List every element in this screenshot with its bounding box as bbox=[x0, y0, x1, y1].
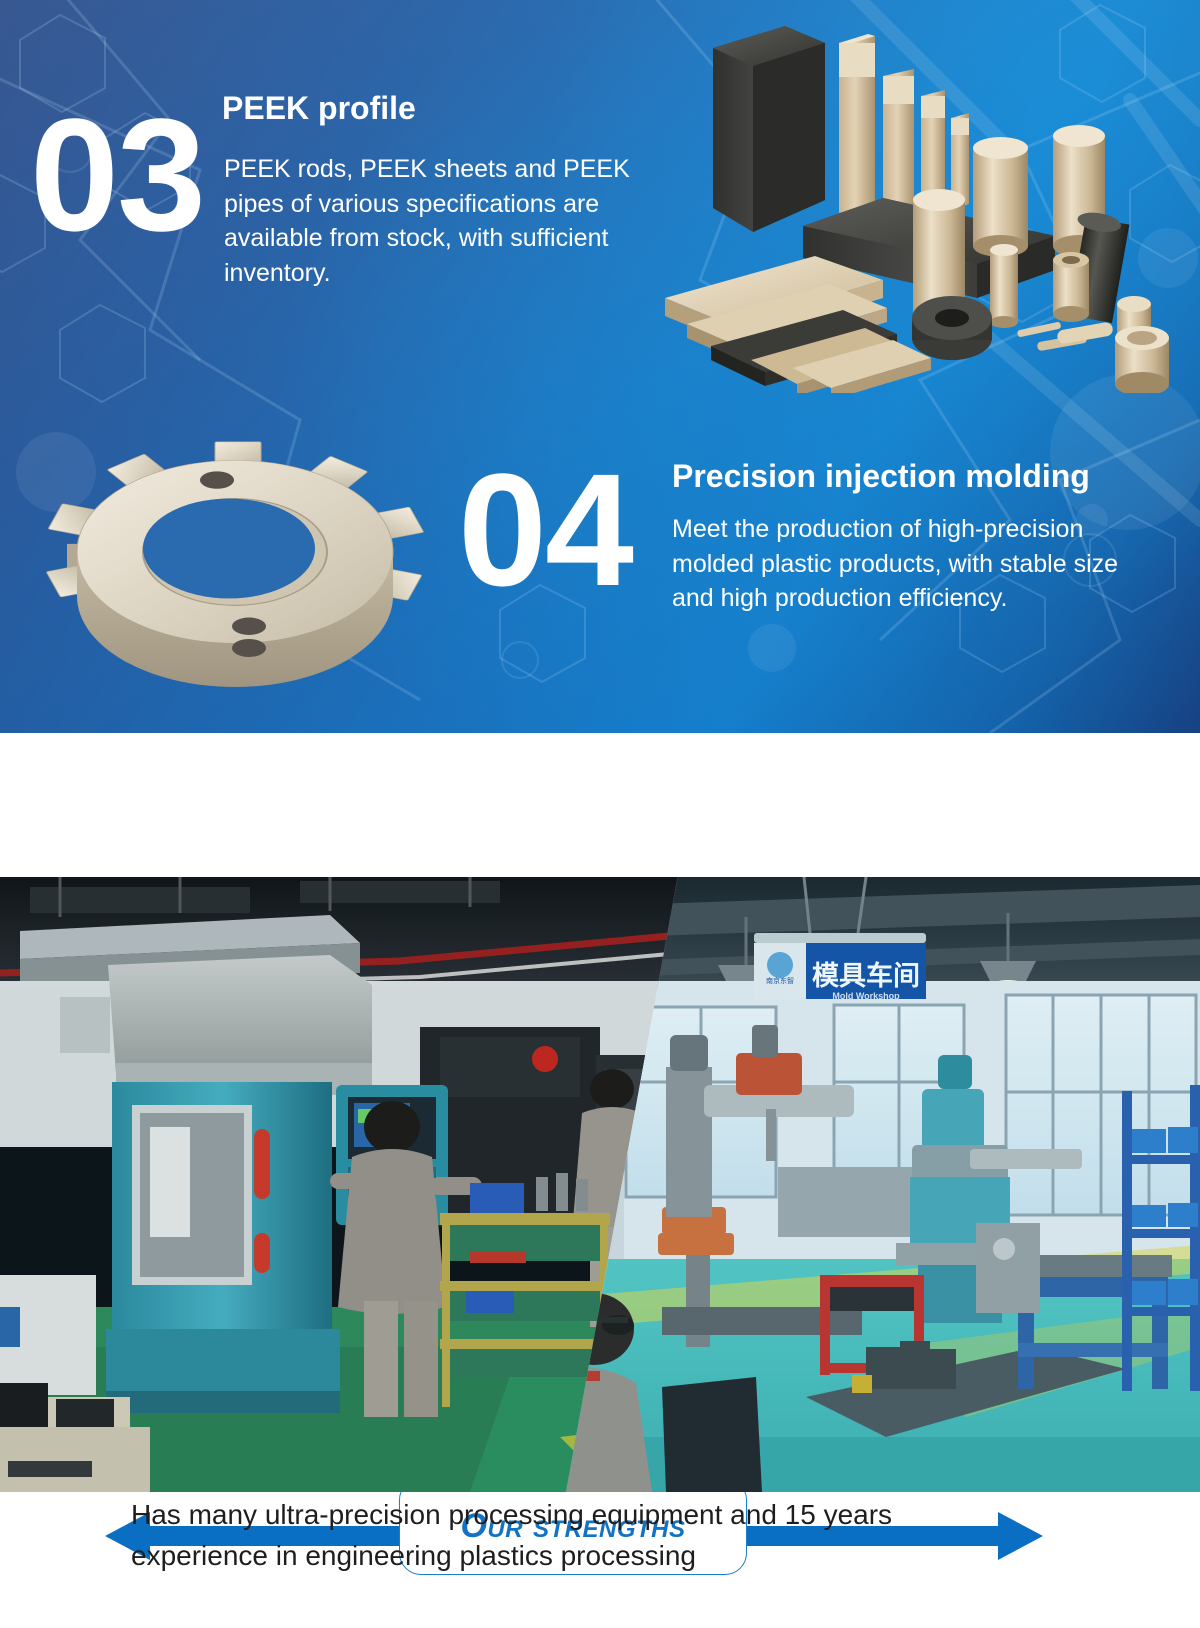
block-title-03: PEEK profile bbox=[222, 90, 416, 127]
caption-line-1: Has many ultra-precision processing equi… bbox=[131, 1495, 1071, 1536]
block-body-03: PEEK rods, PEEK sheets and PEEK pipes of… bbox=[224, 152, 654, 290]
block-title-04: Precision injection molding bbox=[672, 458, 1090, 495]
peek-machined-gear-ring-photo bbox=[25, 400, 445, 695]
bottom-caption: Has many ultra-precision processing equi… bbox=[0, 1495, 1200, 1576]
hero-blue-panel: 03 PEEK profile PEEK rods, PEEK sheets a… bbox=[0, 0, 1200, 733]
caption-line-2: experience in engineering plastics proce… bbox=[131, 1536, 1071, 1577]
block-number-03: 03 bbox=[30, 95, 204, 255]
mold-workshop-photo: 模具车间 Mold Workshop 南京东智 bbox=[566, 877, 1200, 1492]
cnc-machining-workshop-photo bbox=[0, 877, 680, 1492]
block-body-04: Meet the production of high-precision mo… bbox=[672, 512, 1142, 616]
peek-rods-sheets-pipes-photo bbox=[625, 8, 1195, 393]
workshop-photo-row: 模具车间 Mold Workshop 南京东智 bbox=[0, 877, 1200, 1492]
promo-page: 03 PEEK profile PEEK rods, PEEK sheets a… bbox=[0, 0, 1200, 1628]
block-number-04: 04 bbox=[458, 450, 632, 610]
